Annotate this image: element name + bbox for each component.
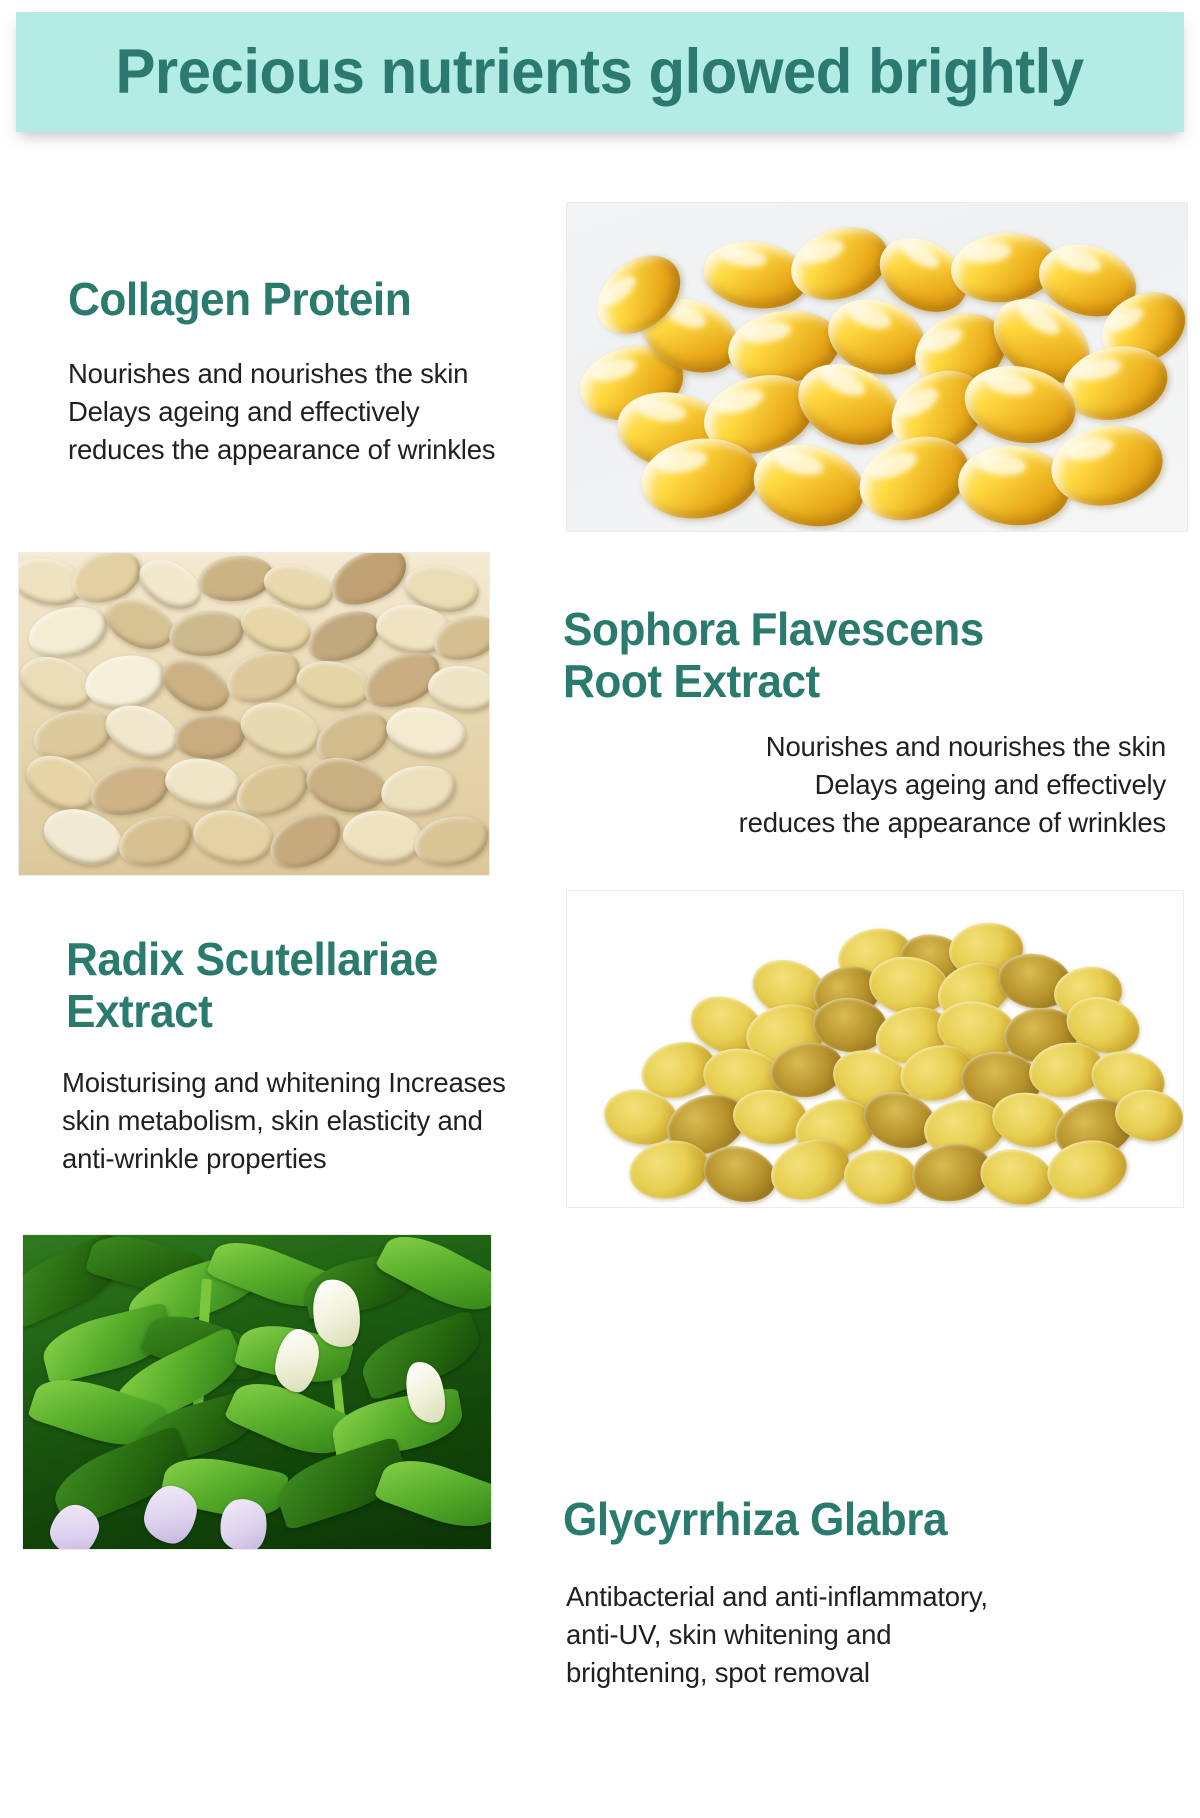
body-line: reduces the appearance of wrinkles <box>560 804 1166 842</box>
section-heading-glycyrrhiza-glabra: Glycyrrhiza Glabra <box>563 1494 1177 1546</box>
section-body-radix-scutellariae-extract: Moisturising and whitening Increases ski… <box>62 1064 562 1179</box>
heading-line: Root Extract <box>563 656 1177 708</box>
body-line: skin metabolism, skin elasticity and <box>62 1102 562 1140</box>
section-body-collagen-protein: Nourishes and nourishes the skin Delays … <box>68 355 538 470</box>
heading-line: Sophora Flavescens <box>563 604 1177 656</box>
heading-line: Extract <box>66 986 565 1038</box>
section-heading-sophora-flavescens-root-extract: Sophora Flavescens Root Extract <box>563 604 1177 708</box>
page-title: Precious nutrients glowed brightly <box>116 36 1084 108</box>
dried-sophora-root-slices-photo <box>18 552 490 876</box>
body-line: Delays ageing and effectively <box>560 766 1166 804</box>
section-body-sophora-flavescens-root-extract: Nourishes and nourishes the skin Delays … <box>560 728 1166 843</box>
heading-line: Radix Scutellariae <box>66 934 565 986</box>
body-line: brightening, spot removal <box>566 1654 1166 1692</box>
body-line: anti-wrinkle properties <box>62 1140 562 1178</box>
section-heading-radix-scutellariae-extract: Radix Scutellariae Extract <box>66 934 565 1038</box>
infographic-page: Precious nutrients glowed brightly Colla… <box>0 0 1200 1818</box>
body-line: Nourishes and nourishes the skin <box>560 728 1166 766</box>
section-body-glycyrrhiza-glabra: Antibacterial and anti-inflammatory, ant… <box>566 1578 1166 1693</box>
body-line: Antibacterial and anti-inflammatory, <box>566 1578 1166 1616</box>
licorice-plant-photo <box>22 1234 492 1550</box>
body-line: anti-UV, skin whitening and <box>566 1616 1166 1654</box>
body-line: reduces the appearance of wrinkles <box>68 431 538 469</box>
body-line: Delays ageing and effectively <box>68 393 538 431</box>
yellow-scutellaria-root-discs-photo <box>566 890 1184 1208</box>
header-banner: Precious nutrients glowed brightly <box>16 12 1184 132</box>
golden-softgel-capsules-photo <box>566 202 1188 532</box>
body-line: Nourishes and nourishes the skin <box>68 355 538 393</box>
body-line: Moisturising and whitening Increases <box>62 1064 562 1102</box>
section-heading-collagen-protein: Collagen Protein <box>68 274 529 326</box>
